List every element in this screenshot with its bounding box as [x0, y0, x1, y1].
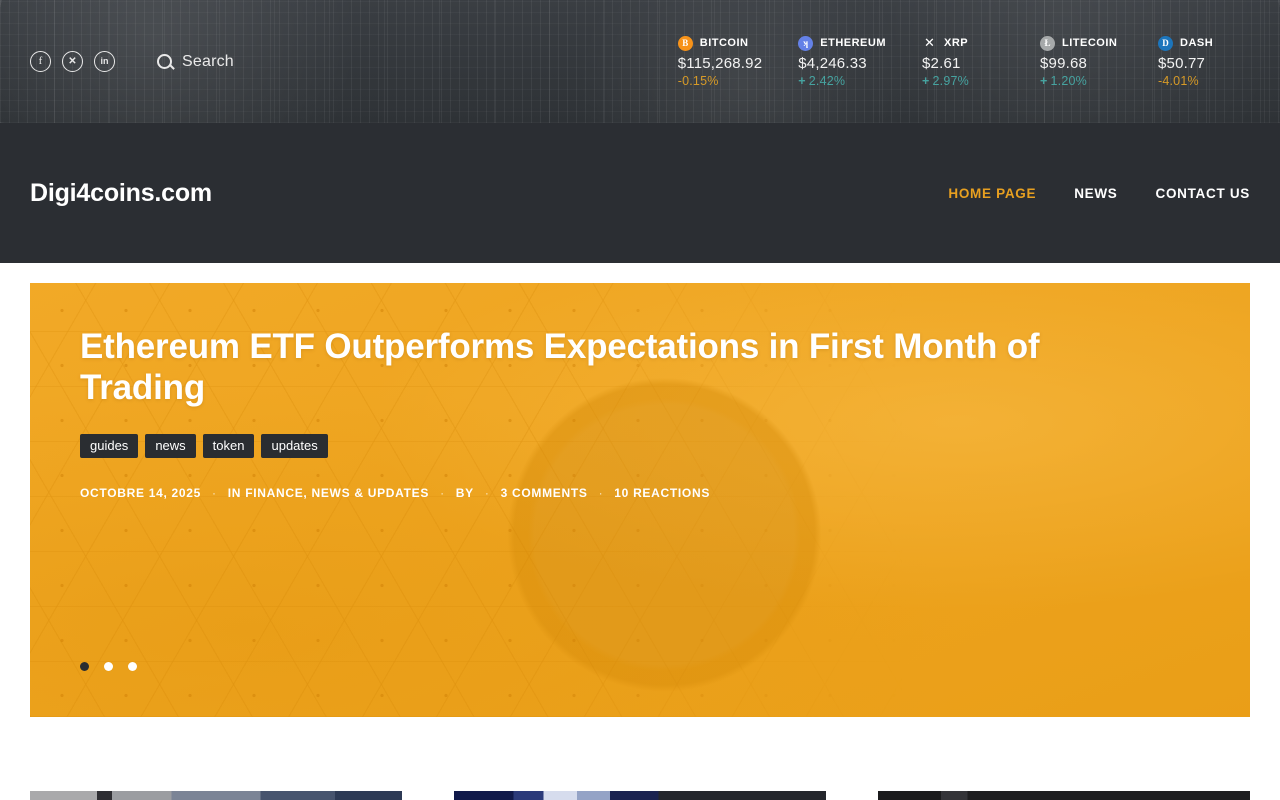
- carousel-pagination: [80, 662, 137, 671]
- ticker-price: $50.77: [1158, 55, 1240, 72]
- linkedin-icon[interactable]: in: [94, 51, 115, 72]
- post-date: OCTOBRE 14, 2025: [80, 486, 201, 500]
- ticker-bitcoin[interactable]: B BITCOIN $115,268.92 -0.15%: [678, 36, 773, 88]
- ticker-price: $4,246.33: [798, 55, 886, 72]
- ticker-name: DASH: [1180, 37, 1213, 49]
- nav-item-home-page[interactable]: HOME PAGE: [929, 186, 1055, 201]
- main-navigation: HOME PAGE NEWS CONTACT US: [929, 186, 1250, 201]
- post-card[interactable]: [878, 791, 1250, 800]
- ticker-price: $2.61: [922, 55, 1004, 72]
- ticker-litecoin[interactable]: Ł LITECOIN $99.68 +1.20%: [1040, 36, 1132, 88]
- ticker-name: XRP: [944, 37, 968, 49]
- x-icon[interactable]: ✕: [62, 51, 83, 72]
- ticker-change: +2.42%: [798, 74, 886, 88]
- ticker-price: $99.68: [1040, 55, 1122, 72]
- ticker-change: -0.15%: [678, 74, 763, 88]
- nav-item-news[interactable]: NEWS: [1055, 186, 1136, 201]
- social-links: f ✕ in: [30, 51, 115, 72]
- ticker-name: ETHEREUM: [820, 37, 886, 49]
- litecoin-icon: Ł: [1040, 36, 1055, 51]
- ticker-xrp[interactable]: ✕ XRP $2.61 +2.97%: [922, 36, 1014, 88]
- meta-separator: ·: [599, 486, 604, 500]
- bitcoin-icon: B: [678, 36, 693, 51]
- post-thumbnail[interactable]: [30, 791, 402, 800]
- post-card[interactable]: [454, 791, 826, 800]
- ticker-change: -4.01%: [1158, 74, 1240, 88]
- tag-updates[interactable]: updates: [261, 434, 327, 458]
- tag-guides[interactable]: guides: [80, 434, 138, 458]
- post-card[interactable]: [30, 791, 402, 800]
- post-card-grid: [0, 717, 1280, 800]
- post-reactions-count[interactable]: 10 REACTIONS: [614, 486, 710, 500]
- ticker-change: +2.97%: [922, 74, 1004, 88]
- ethereum-icon: ʞ: [798, 36, 813, 51]
- search-button[interactable]: Search: [157, 53, 234, 71]
- post-comments-count[interactable]: 3 COMMENTS: [501, 486, 588, 500]
- ticker-change: +1.20%: [1040, 74, 1122, 88]
- xrp-icon: ✕: [922, 36, 937, 51]
- meta-separator: ·: [212, 486, 217, 500]
- post-thumbnail[interactable]: [878, 791, 1250, 800]
- search-icon: [157, 54, 172, 69]
- top-utility-bar: f ✕ in Search B BITCOIN $115,268.92 -0.1…: [0, 0, 1280, 123]
- featured-post-slide[interactable]: Ethereum ETF Outperforms Expectations in…: [30, 283, 1250, 717]
- site-logo[interactable]: Digi4coins.com: [30, 179, 212, 208]
- tag-news[interactable]: news: [145, 434, 195, 458]
- meta-separator: ·: [485, 486, 490, 500]
- post-tag-list: guides news token updates: [80, 434, 1200, 458]
- ticker-price: $115,268.92: [678, 55, 763, 72]
- carousel-dot-3[interactable]: [128, 662, 137, 671]
- post-author-label: BY: [456, 486, 474, 500]
- post-meta: OCTOBRE 14, 2025 · IN FINANCE, NEWS & UP…: [80, 486, 1200, 500]
- crypto-ticker-list: B BITCOIN $115,268.92 -0.15% ʞ ETHEREUM …: [678, 36, 1250, 88]
- tag-token[interactable]: token: [203, 434, 255, 458]
- ticker-ethereum[interactable]: ʞ ETHEREUM $4,246.33 +2.42%: [798, 36, 896, 88]
- post-categories[interactable]: FINANCE, NEWS & UPDATES: [245, 486, 429, 500]
- hero-section: Ethereum ETF Outperforms Expectations in…: [0, 263, 1280, 717]
- nav-item-contact-us[interactable]: CONTACT US: [1137, 186, 1251, 201]
- dash-icon: D: [1158, 36, 1173, 51]
- meta-separator: ·: [440, 486, 445, 500]
- post-thumbnail[interactable]: [454, 791, 826, 800]
- ticker-name: BITCOIN: [700, 37, 749, 49]
- facebook-icon[interactable]: f: [30, 51, 51, 72]
- ticker-name: LITECOIN: [1062, 37, 1117, 49]
- carousel-dot-1[interactable]: [80, 662, 89, 671]
- search-label: Search: [182, 53, 234, 71]
- featured-post-title[interactable]: Ethereum ETF Outperforms Expectations in…: [80, 327, 1100, 409]
- site-header: Digi4coins.com HOME PAGE NEWS CONTACT US: [0, 123, 1280, 263]
- ticker-dash[interactable]: D DASH $50.77 -4.01%: [1158, 36, 1250, 88]
- carousel-dot-2[interactable]: [104, 662, 113, 671]
- post-category-prefix: IN: [228, 486, 241, 500]
